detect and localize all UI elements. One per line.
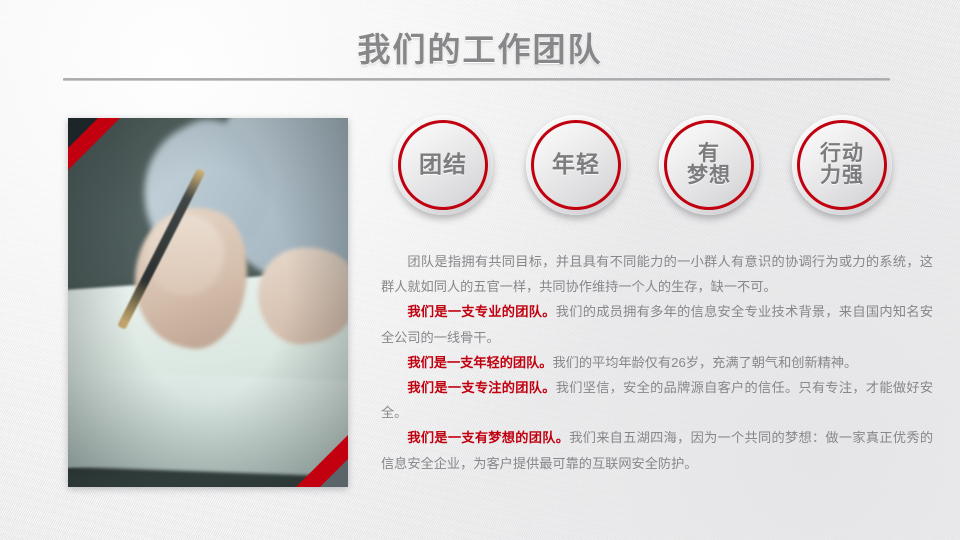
badge-row: 团结 年轻 有 梦想 行动 力强 — [393, 115, 913, 220]
badge-label: 行动 力强 — [820, 143, 864, 188]
paragraph: 我们是一支年轻的团队。我们的平均年龄仅有26岁，充满了朝气和创新精神。 — [381, 350, 933, 375]
paragraph-text: 团队是指拥有共同目标，并且具有不同能力的一小群人有意识的协调行为或力的系统，这群… — [381, 254, 933, 294]
badge-label-line2: 梦想 — [687, 165, 731, 187]
photo-vignette — [68, 118, 348, 487]
badge-label-line1: 年轻 — [552, 153, 600, 177]
badge-label-line2: 力强 — [820, 165, 864, 187]
page-title: 我们的工作团队 — [0, 23, 960, 71]
paragraph-lead: 我们是一支专注的团队。 — [407, 380, 555, 395]
badge-label-line1: 有 — [687, 143, 731, 165]
paragraph: 团队是指拥有共同目标，并且具有不同能力的一小群人有意识的协调行为或力的系统，这群… — [381, 249, 933, 299]
badge-label: 团结 — [419, 153, 467, 177]
team-photo — [68, 118, 348, 487]
badge-action-oriented[interactable]: 行动 力强 — [792, 115, 892, 215]
paragraph: 我们是一支专业的团队。我们的成员拥有多年的信息安全专业技术背景，来自国内知名安全… — [381, 299, 933, 349]
badge-unity[interactable]: 团结 — [393, 115, 493, 215]
body-copy: 团队是指拥有共同目标，并且具有不同能力的一小群人有意识的协调行为或力的系统，这群… — [381, 249, 933, 476]
photo-corner-inner-bottom-right — [320, 459, 348, 487]
paragraph-lead: 我们是一支有梦想的团队。 — [407, 430, 569, 445]
title-divider — [63, 78, 890, 81]
paragraph-lead: 我们是一支专业的团队。 — [407, 304, 555, 319]
badge-young[interactable]: 年轻 — [526, 115, 626, 215]
paragraph-lead: 我们是一支年轻的团队。 — [407, 355, 552, 370]
badge-label: 有 梦想 — [687, 143, 731, 188]
paragraph: 我们是一支专注的团队。我们坚信，安全的品牌源自客户的信任。只有专注，才能做好安全… — [381, 375, 933, 425]
badge-label-line1: 团结 — [419, 153, 467, 177]
badge-label: 年轻 — [552, 153, 600, 177]
paragraph: 我们是一支有梦想的团队。我们来自五湖四海，因为一个共同的梦想：做一家真正优秀的信… — [381, 425, 933, 475]
slide-canvas: 我们的工作团队 团结 年轻 — [0, 0, 960, 540]
badge-dreaming[interactable]: 有 梦想 — [659, 115, 759, 215]
photo-corner-inner-top-left — [68, 118, 98, 148]
paragraph-text: 我们的平均年龄仅有26岁，充满了朝气和创新精神。 — [552, 355, 857, 370]
badge-label-line1: 行动 — [820, 143, 864, 165]
